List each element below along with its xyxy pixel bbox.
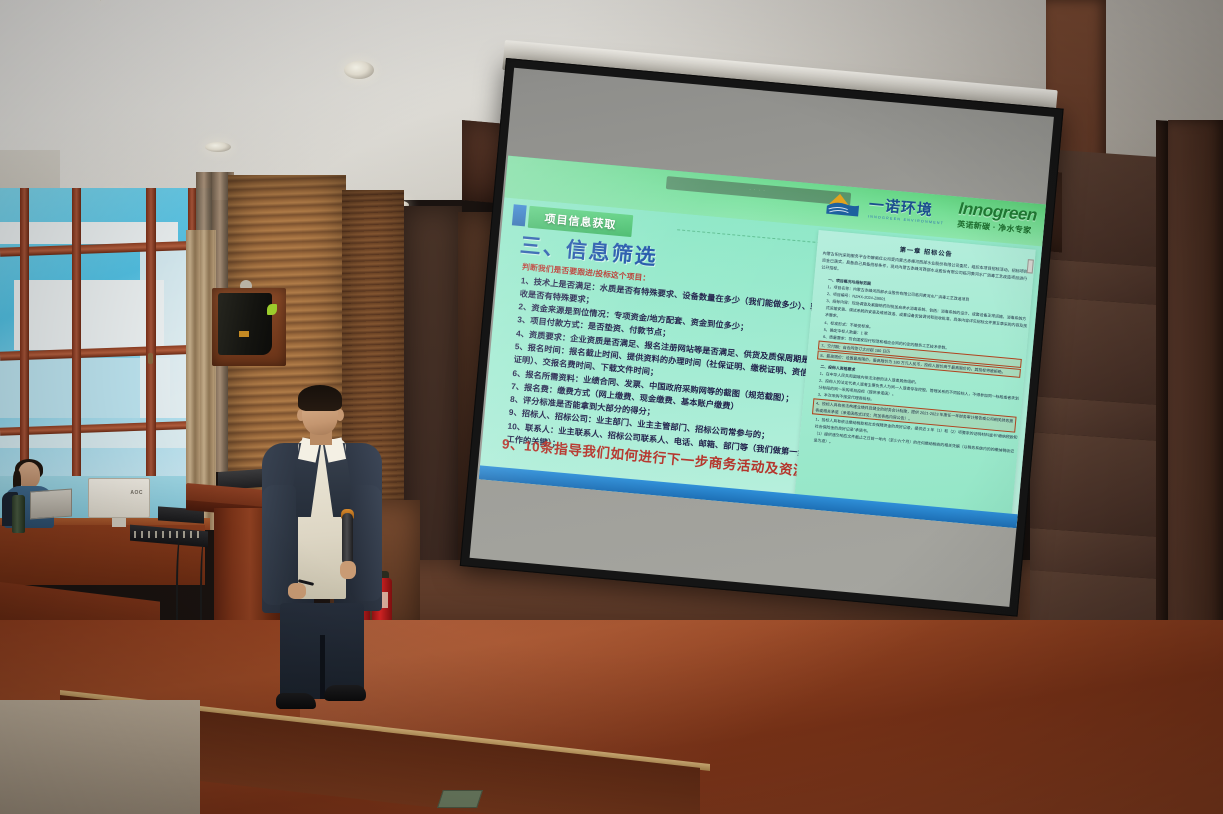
right-wall-edge xyxy=(1156,120,1168,681)
presenter xyxy=(258,385,386,705)
wall-speaker xyxy=(218,293,272,355)
projector-glare xyxy=(479,156,1046,529)
thermos-bottle xyxy=(12,495,25,533)
downlight-icon xyxy=(205,142,231,152)
speaker-badge-icon xyxy=(239,331,249,337)
attendee-head xyxy=(18,462,40,488)
attendee-laptop xyxy=(30,489,72,520)
floor-outlet xyxy=(437,790,483,808)
mixer-controls xyxy=(134,531,204,538)
presenter-arm-right xyxy=(350,485,382,601)
presenter-hand-left xyxy=(288,583,306,599)
presenter-hair xyxy=(298,385,342,411)
floor-tiles xyxy=(0,700,200,814)
downlight-icon xyxy=(344,61,374,79)
monitor-brand-label: AOC xyxy=(130,490,143,496)
desktop-monitor: AOC xyxy=(88,478,150,518)
microphone xyxy=(342,513,353,565)
presenter-hand-right xyxy=(340,561,356,579)
presenter-shoe-left xyxy=(276,693,316,709)
window-wall xyxy=(0,188,212,488)
downlight-icon xyxy=(100,0,101,1)
presenter-shoe-right xyxy=(324,685,366,701)
presenter-leg-gap xyxy=(320,635,325,699)
conference-room-photo: ···· 一诺环境 INNOGREEN ENVIRONMENT Inno xyxy=(0,0,1223,814)
presentation-slide: ···· 一诺环境 INNOGREEN ENVIRONMENT Inno xyxy=(479,156,1046,529)
monitor-stand xyxy=(112,518,126,527)
projection-screen: ···· 一诺环境 INNOGREEN ENVIRONMENT Inno xyxy=(460,58,1064,617)
wall-decal-icon xyxy=(267,304,277,315)
